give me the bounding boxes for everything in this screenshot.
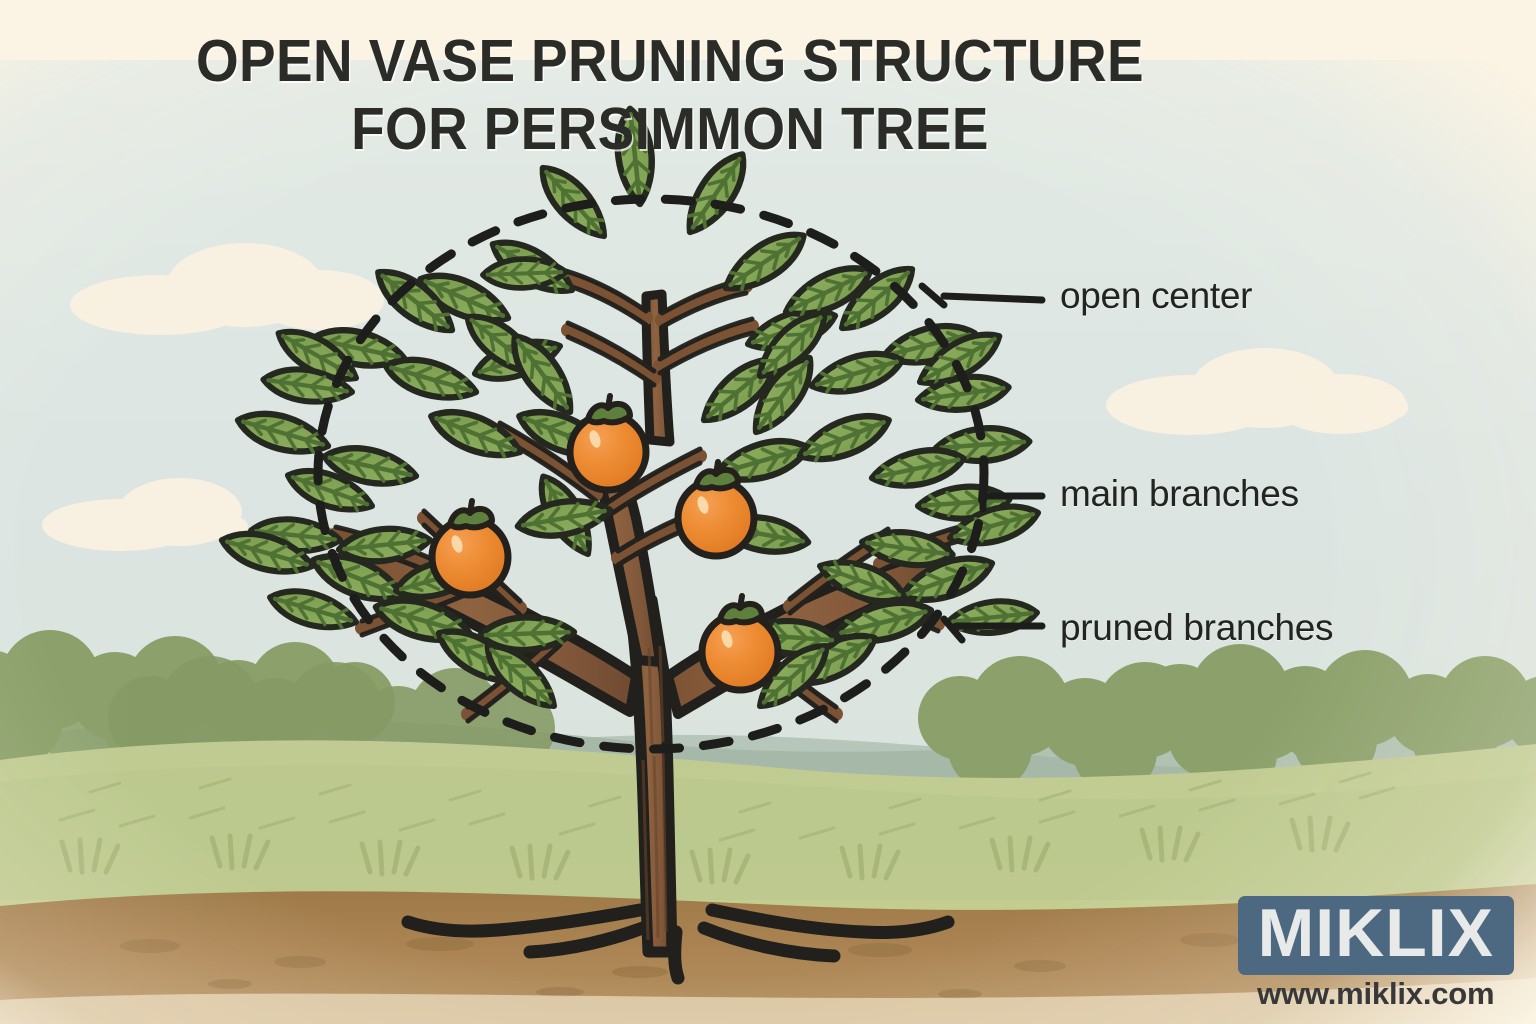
callout-label-main-branches: main branches <box>1060 473 1299 515</box>
illustration-page: OPEN VASE PRUNING STRUCTURE FOR PERSIMMO… <box>0 0 1536 1024</box>
persimmon-tree-illustration <box>0 0 1536 1024</box>
watermark: MIKLIX www.miklix.com <box>1238 896 1514 1012</box>
callout-label-open-center: open center <box>1060 275 1252 317</box>
watermark-brand: MIKLIX <box>1258 899 1494 968</box>
watermark-brand-box: MIKLIX <box>1238 896 1514 975</box>
callout-label-pruned-branches: pruned branches <box>1060 607 1333 649</box>
watermark-url: www.miklix.com <box>1238 976 1514 1012</box>
scene-painting <box>0 60 1536 1024</box>
